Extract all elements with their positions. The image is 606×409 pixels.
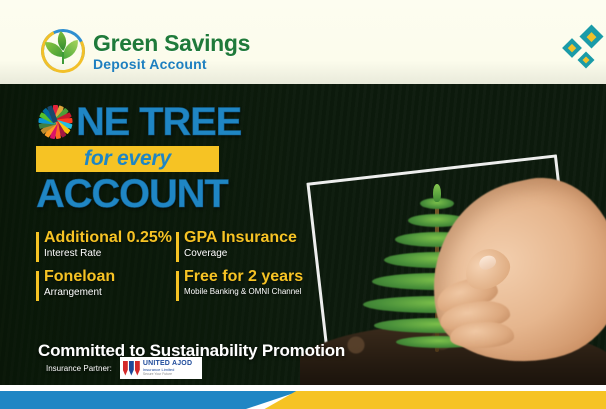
brand-title: Green Savings (93, 32, 250, 55)
feature-grid: Additional 0.25%Interest RateGPA Insuran… (36, 230, 316, 300)
headline-for-every: for every (84, 147, 171, 171)
feature-subtitle: Mobile Banking & OMNI Channel (184, 287, 316, 297)
feature-item: Free for 2 yearsMobile Banking & OMNI Ch… (176, 269, 316, 299)
diamond-shape (562, 38, 582, 58)
brand-subtitle: Deposit Account (93, 57, 250, 71)
sapling-tip (433, 184, 441, 202)
united-ajod-chevron-mark-icon (123, 361, 140, 376)
insurance-partner-block: Insurance Partner: UNITED AJOD Insurance… (46, 357, 202, 379)
headline-word-one: NE (76, 103, 129, 141)
hand-planting-sapling-image (300, 176, 606, 388)
promotional-banner: Green Savings Deposit Account NE TREE fo… (0, 0, 606, 409)
bottom-bar-yellow (254, 391, 606, 409)
partner-tagline: Secure Your Future (143, 373, 192, 376)
chevron-shape (135, 361, 140, 376)
partner-logo: UNITED AJOD Insurance Limited Secure You… (120, 357, 202, 379)
insurance-partner-label: Insurance Partner: (46, 364, 112, 373)
feature-title: Foneloan (44, 269, 176, 286)
diamond-shape (578, 52, 595, 69)
partner-name: UNITED AJOD (143, 360, 192, 367)
feature-item: Additional 0.25%Interest Rate (36, 230, 176, 260)
leaf-circle-logo-icon (40, 28, 86, 74)
partner-logo-text: UNITED AJOD Insurance Limited Secure You… (143, 360, 192, 376)
feature-subtitle: Arrangement (44, 287, 176, 300)
feature-item: FoneloanArrangement (36, 269, 176, 299)
feature-title: GPA Insurance (184, 230, 316, 247)
brand-logo: Green Savings Deposit Account (40, 28, 250, 74)
headline-word-account: ACCOUNT (36, 175, 241, 213)
feature-title: Free for 2 years (184, 269, 316, 286)
sdg-color-wheel-icon (36, 103, 74, 141)
headline-word-tree: TREE (139, 103, 241, 141)
leaf-stem (62, 52, 64, 64)
for-every-bar: for every (36, 146, 219, 172)
chevron-shape (123, 361, 128, 376)
feature-item: GPA InsuranceCoverage (176, 230, 316, 260)
brand-logo-text: Green Savings Deposit Account (93, 32, 250, 71)
headline-block: NE TREE for every ACCOUNT (36, 100, 241, 213)
diamond-shape (579, 24, 603, 48)
feature-subtitle: Coverage (184, 248, 316, 261)
chevron-shape (129, 361, 134, 376)
feature-subtitle: Interest Rate (44, 248, 176, 261)
header-strip: Green Savings Deposit Account (0, 0, 606, 84)
diamond-motif-icon (556, 28, 600, 74)
headline-line-one: NE TREE (36, 100, 241, 144)
feature-title: Additional 0.25% (44, 230, 176, 247)
